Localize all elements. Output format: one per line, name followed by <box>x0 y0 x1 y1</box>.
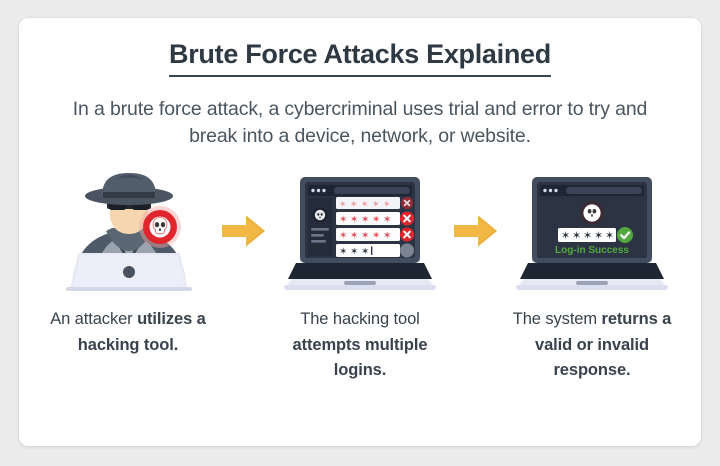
title-container: Brute Force Attacks Explained <box>19 18 701 77</box>
flow-step-1-caption: An attacker utilizes a hacking tool. <box>40 307 216 358</box>
svg-text:✶: ✶ <box>361 215 369 226</box>
svg-text:✶: ✶ <box>383 199 391 209</box>
svg-text:✶: ✶ <box>561 230 570 242</box>
flow-step-1: An attacker utilizes a hacking tool. <box>42 171 214 358</box>
svg-text:✶: ✶ <box>339 231 347 242</box>
svg-text:✶: ✶ <box>383 215 391 226</box>
process-flow: An attacker utilizes a hacking tool. <box>19 171 701 384</box>
laptop-login-success-icon: ✶✶ ✶✶ ✶ Log-in Success <box>514 175 670 291</box>
login-success-label: Log-in Success <box>555 245 629 256</box>
svg-text:✶: ✶ <box>583 230 592 242</box>
flow-arrow-2-container <box>446 171 506 291</box>
svg-text:✶: ✶ <box>605 230 614 242</box>
svg-text:✶: ✶ <box>383 231 391 242</box>
laptop-password-attempts-icon: ✶✶ ✶✶ ✶ ✶✶ ✶✶ ✶ <box>282 175 438 291</box>
skull-alert-badge-icon <box>138 205 182 249</box>
svg-text:✶: ✶ <box>594 230 603 242</box>
flow-step-3-caption: The system returns a valid or invalid re… <box>504 307 680 384</box>
flow-step-2: ✶✶ ✶✶ ✶ ✶✶ ✶✶ ✶ <box>274 171 446 384</box>
flow-step-3-caption-regular: The system <box>513 310 597 328</box>
svg-text:✶: ✶ <box>339 247 347 258</box>
page-subtitle: In a brute force attack, a cybercriminal… <box>70 96 650 151</box>
svg-text:✶: ✶ <box>350 199 358 209</box>
arrow-right-icon <box>454 214 498 248</box>
svg-text:✶: ✶ <box>372 215 380 226</box>
screenshot-root: Brute Force Attacks Explained In a brute… <box>0 0 720 466</box>
svg-text:✶: ✶ <box>361 199 369 209</box>
svg-text:✶: ✶ <box>339 199 347 209</box>
flow-step-1-caption-regular: An attacker <box>50 310 132 328</box>
page-title: Brute Force Attacks Explained <box>169 40 551 77</box>
flow-step-2-caption-regular: The hacking tool <box>300 310 419 328</box>
svg-text:✶: ✶ <box>339 215 347 226</box>
svg-text:✶: ✶ <box>350 247 358 258</box>
flow-step-3: ✶✶ ✶✶ ✶ Log-in Success <box>506 171 678 384</box>
svg-text:✶: ✶ <box>372 199 380 209</box>
svg-text:✶: ✶ <box>372 231 380 242</box>
svg-text:✶: ✶ <box>350 215 358 226</box>
flow-arrow-1-container <box>214 171 274 291</box>
login-success-illustration: ✶✶ ✶✶ ✶ Log-in Success <box>506 171 678 291</box>
svg-text:✶: ✶ <box>350 231 358 242</box>
flow-step-2-caption: The hacking tool attempts multiple login… <box>272 307 448 384</box>
infographic-card: Brute Force Attacks Explained In a brute… <box>19 18 701 446</box>
svg-text:✶: ✶ <box>361 247 369 258</box>
svg-text:✶: ✶ <box>361 231 369 242</box>
arrow-right-icon <box>222 214 266 248</box>
multiple-login-attempts-illustration: ✶✶ ✶✶ ✶ ✶✶ ✶✶ ✶ <box>274 171 446 291</box>
svg-text:✶: ✶ <box>572 230 581 242</box>
flow-step-2-caption-bold: attempts multiple logins. <box>293 336 428 380</box>
attacker-illustration <box>42 171 214 291</box>
